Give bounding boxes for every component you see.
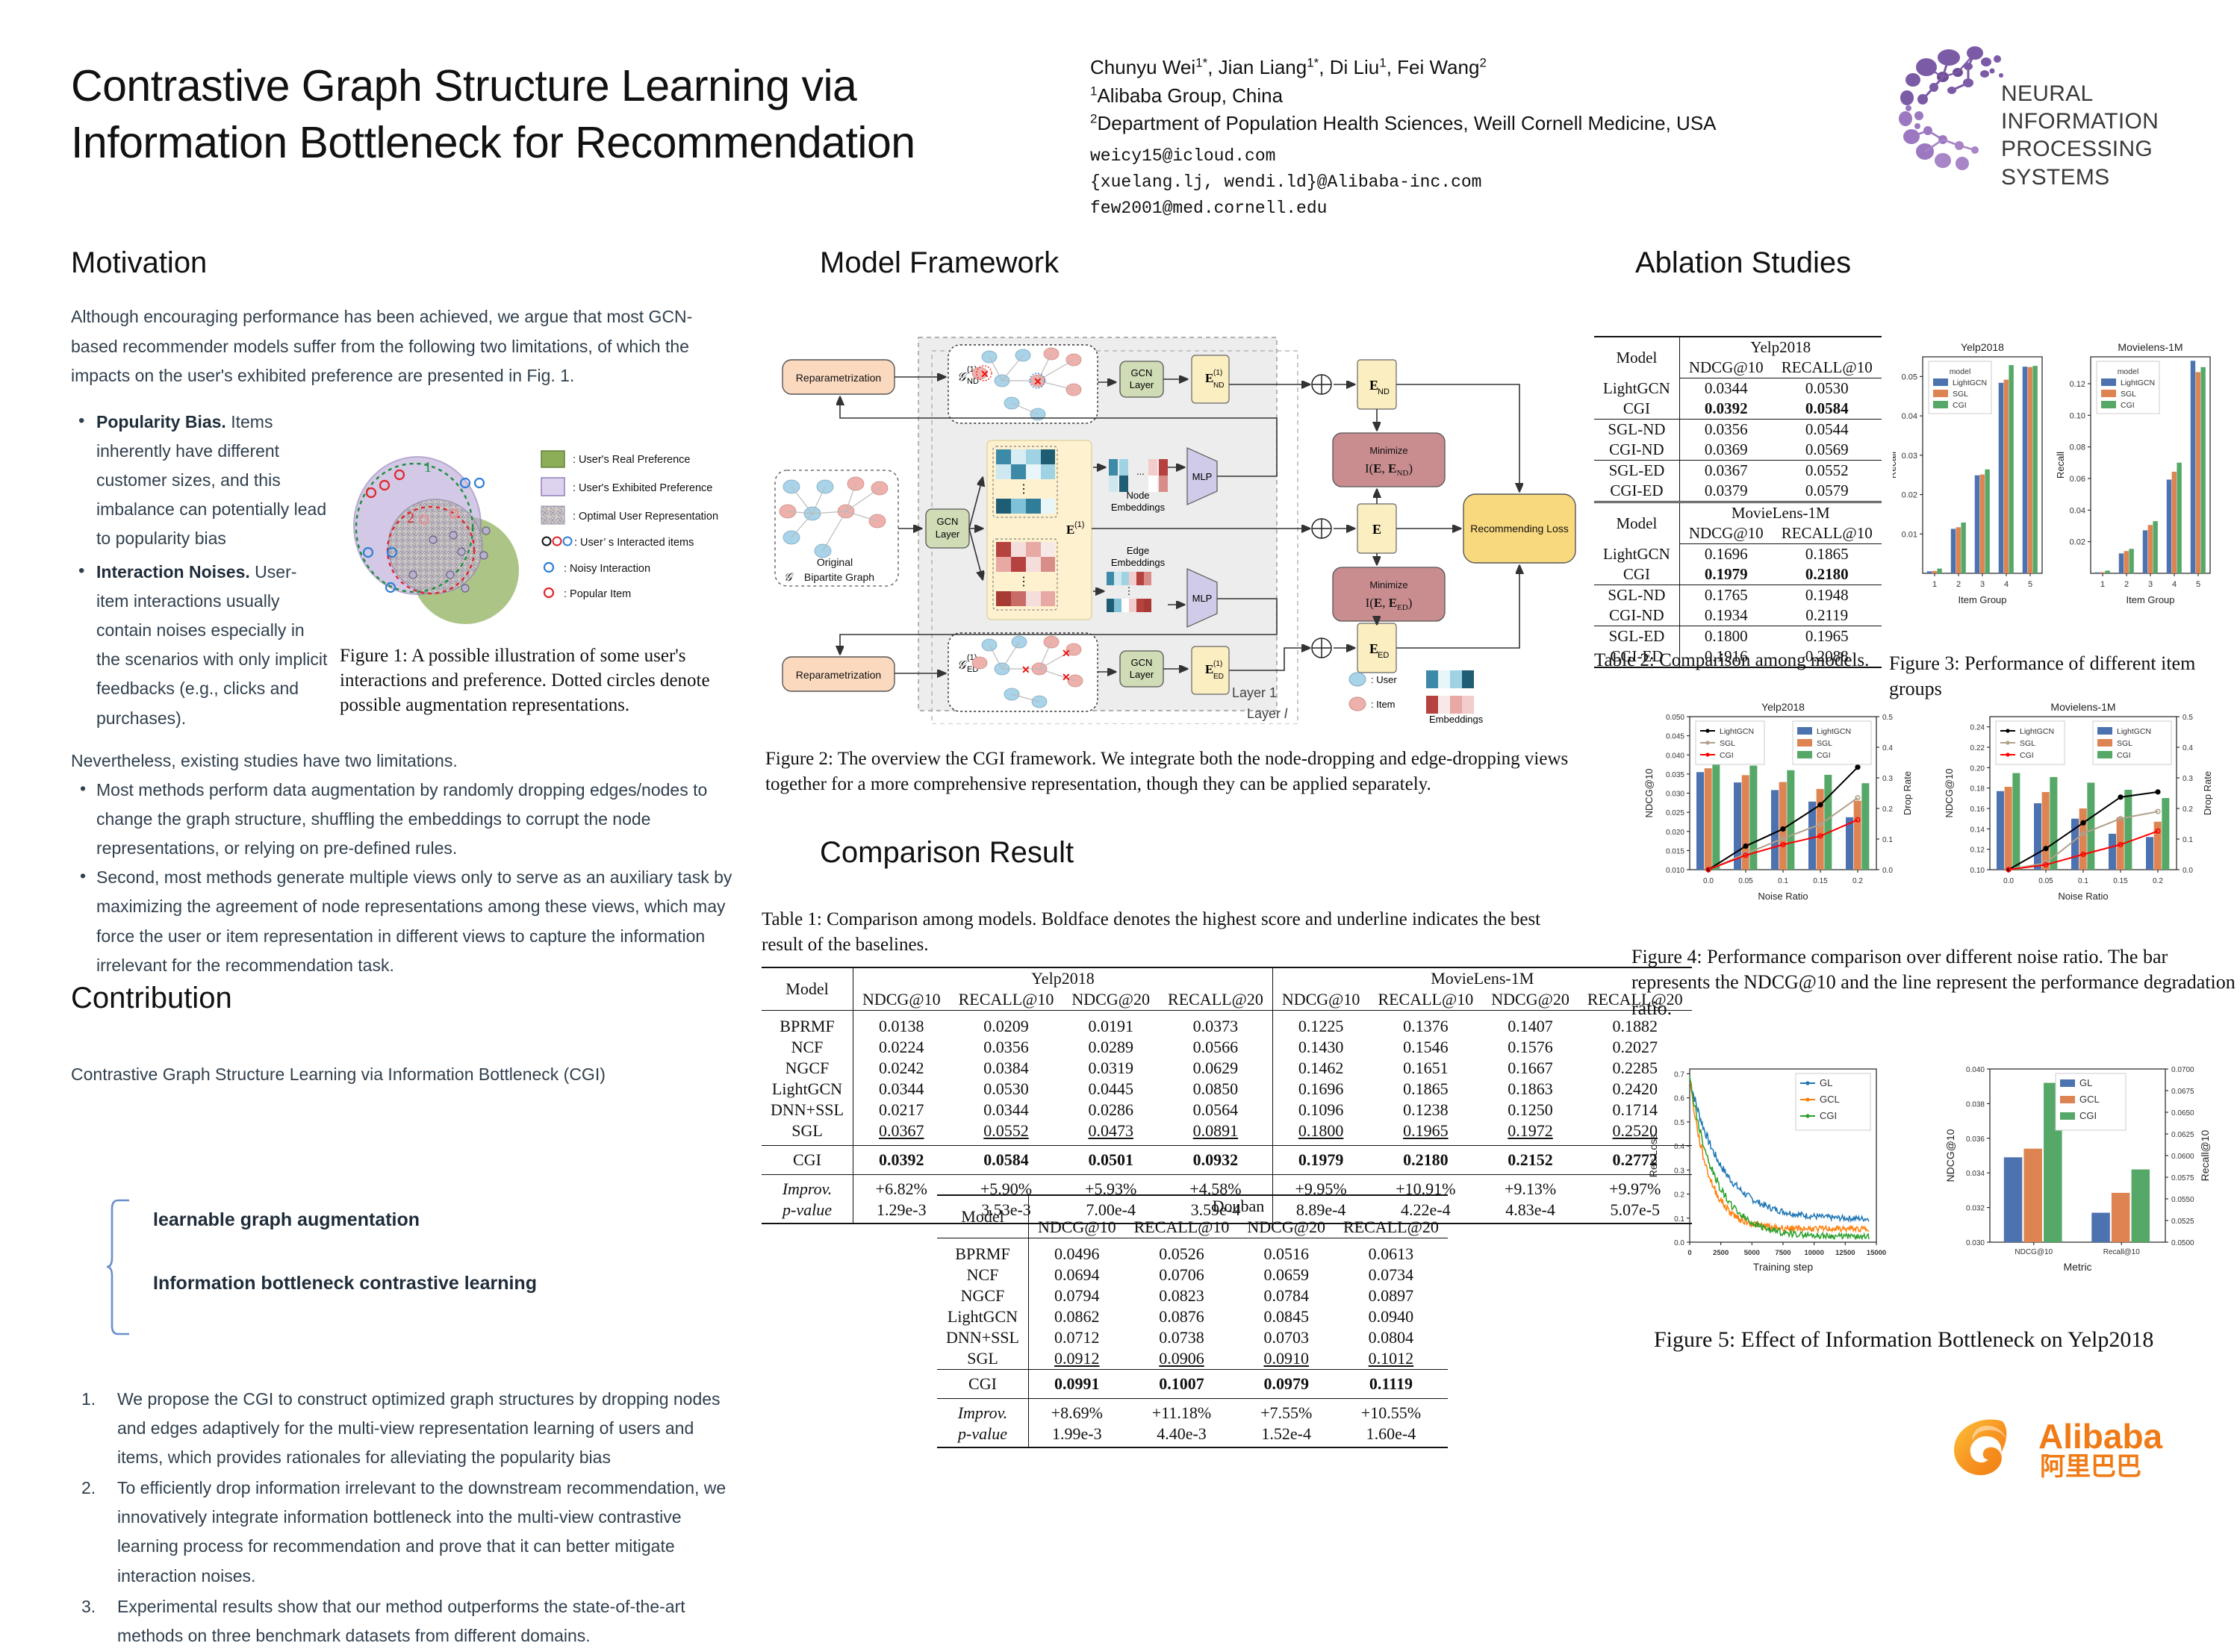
legend-label: CGI — [2020, 751, 2034, 760]
cell-value: 0.1979 — [1272, 1146, 1369, 1175]
bar-LightGCN — [1927, 571, 1932, 573]
cell-model: CGI — [1594, 399, 1679, 420]
bar-CGI — [2087, 782, 2094, 870]
authors-line: Chunyu Wei1*, Jian Liang1*, Di Liu1, Fei… — [1090, 54, 1859, 82]
y2-tick-label: 0.0500 — [2171, 1239, 2194, 1247]
svg-text:Reparametrization: Reparametrization — [796, 372, 881, 384]
bar-SGL — [2172, 472, 2177, 573]
y2-tick-label: 0.3 — [1882, 775, 1893, 783]
cell-value: 0.2119 — [1773, 605, 1882, 626]
legend-label: LightGCN — [1953, 378, 1987, 387]
figure-1-label-1: 1 — [424, 459, 432, 476]
cell-model: p-value — [762, 1200, 853, 1224]
svg-text:⋮: ⋮ — [1018, 483, 1030, 496]
x-tick-label: 2 — [1956, 580, 1961, 589]
table-douban: Model Douban NDCG@10RECALL@10NDCG@20RECA… — [937, 1194, 1448, 1448]
cell-model: BPRMF — [762, 1011, 853, 1038]
y-tick-label: 0.3 — [1674, 1167, 1684, 1175]
legend-swatch-SGL — [1933, 390, 1948, 397]
svg-text:(1): (1) — [1213, 660, 1222, 668]
cell-value: 0.0496 — [1028, 1238, 1124, 1265]
y-tick-label: 0.030 — [1666, 791, 1684, 799]
x-tick-label: 15000 — [1867, 1249, 1886, 1257]
legend-title: model — [1950, 367, 1971, 376]
legend-swatch-SGL — [2101, 390, 2116, 397]
chart-title: Yelp2018 — [1961, 341, 2004, 353]
cell-value: 0.1800 — [1679, 626, 1772, 647]
legend-swatch-real-preference — [541, 451, 564, 467]
y-tick-label: 0.16 — [1970, 805, 1985, 814]
y2-tick-label: 0.0600 — [2171, 1153, 2194, 1161]
bar-CGI — [1861, 783, 1869, 870]
cell-value: 0.0712 — [1028, 1327, 1124, 1348]
table-row: CGI0.09910.10070.09790.1119 — [937, 1370, 1448, 1399]
y-tick-label: 0.040 — [1966, 1066, 1985, 1074]
y-tick-label: 0.14 — [1970, 826, 1985, 834]
bar-CGI — [2032, 366, 2037, 573]
legend-swatch-CGI — [2097, 751, 2112, 758]
cell-value: 0.1576 — [1482, 1037, 1578, 1058]
cell-value: 0.0876 — [1125, 1306, 1239, 1327]
y2-axis-label: Drop Rate — [2202, 771, 2213, 815]
y-tick-label: 0.040 — [1666, 752, 1684, 760]
cell-value: 0.0912 — [1028, 1348, 1124, 1370]
figure-1-label-2: 2 — [407, 510, 414, 526]
y-tick-label: 0.032 — [1966, 1205, 1985, 1213]
legend-swatch-SGL — [2097, 739, 2112, 746]
cell-value: +7.55% — [1238, 1399, 1334, 1424]
svg-text:E: E — [1066, 523, 1074, 537]
y2-tick-label: 0.0675 — [2171, 1088, 2194, 1096]
bar-LightGCN — [1975, 476, 1979, 573]
cell-value: 0.0209 — [950, 1011, 1063, 1038]
cell-value: 0.1865 — [1773, 544, 1882, 565]
cell-value: 4.83e-4 — [1482, 1200, 1578, 1224]
table-row: SGL-ED0.03670.0552 — [1594, 461, 1882, 481]
figure-5-caption: Figure 5: Effect of Information Bottlene… — [1654, 1325, 2221, 1355]
cell-value: 0.0794 — [1028, 1285, 1124, 1306]
x-tick-label: 4 — [2172, 580, 2177, 589]
cell-value: 0.1225 — [1272, 1011, 1369, 1038]
cell-value: 0.0979 — [1238, 1370, 1334, 1399]
x-axis-label: Noise Ratio — [2058, 891, 2108, 902]
cell-model: CGI-ND — [1594, 605, 1679, 626]
cell-value: 0.1462 — [1272, 1058, 1369, 1079]
cell-value: 0.1119 — [1334, 1370, 1448, 1399]
figure-4: 0.0100.0150.0200.0250.0300.0350.0400.045… — [1631, 694, 2240, 926]
cell-value: 0.2180 — [1773, 564, 1882, 585]
cell-value: 0.1667 — [1482, 1058, 1578, 1079]
svg-text:E: E — [1372, 522, 1381, 537]
cell-value: 4.40e-3 — [1125, 1424, 1239, 1447]
cell-value: 0.0552 — [1773, 461, 1882, 481]
legend-label: GCL — [2079, 1094, 2100, 1105]
cell-value: 0.0862 — [1028, 1306, 1124, 1327]
cell-value: 0.0392 — [1679, 399, 1772, 420]
cell-value: 0.1865 — [1369, 1079, 1482, 1100]
svg-text:Recommending Loss: Recommending Loss — [1470, 523, 1569, 534]
svg-text:E: E — [1205, 371, 1213, 385]
cell-model: DNN+SSL — [937, 1327, 1028, 1348]
y-tick-label: 0.06 — [2070, 475, 2085, 484]
x-tick-label: 5 — [2196, 580, 2200, 589]
bar-GCL — [2112, 1193, 2130, 1242]
legend-label: LightGCN — [2020, 727, 2054, 736]
y-axis-label: Rec Loss — [1647, 1134, 1659, 1177]
bar-CGI — [2129, 549, 2133, 573]
bar-CGI — [1985, 470, 1989, 573]
y-tick-label: 0.025 — [1666, 809, 1684, 817]
table-row: ModelYelp2018 — [1594, 337, 1882, 358]
cell-value: 0.0367 — [853, 1120, 949, 1146]
figure-3: 0.010.020.030.040.0512345Item GroupRecal… — [1893, 334, 2240, 637]
col-header-model: Model — [1594, 337, 1679, 378]
email-1: weicy15@icloud.com — [1090, 143, 1859, 169]
legend-label: GCL — [1820, 1094, 1840, 1105]
group-header-movielens: MovieLens-1M — [1272, 967, 1691, 989]
y-tick-label: 0.04 — [2070, 506, 2085, 515]
bar-CGI — [2162, 798, 2169, 870]
email-block: weicy15@icloud.com {xuelang.lj, wendi.ld… — [1090, 143, 1859, 222]
bar-SGL — [2148, 525, 2153, 573]
y-tick-label: 0.02 — [1902, 491, 1917, 500]
y-tick-label: 0.7 — [1674, 1070, 1684, 1079]
legend-label: LightGCN — [1720, 727, 1754, 736]
figure-1: 1 2 : User's Real Preference — [340, 442, 735, 643]
cell-value: 0.0392 — [853, 1146, 949, 1175]
table-row: BPRMF0.04960.05260.05160.0613 — [937, 1238, 1448, 1265]
svg-text:ND: ND — [1213, 381, 1224, 390]
cell-model: NCF — [937, 1265, 1028, 1285]
bar-SGL — [2042, 792, 2050, 870]
col-header-metric: NDCG@20 — [1238, 1217, 1334, 1238]
bullet-text: User-item interactions usually contain n… — [96, 562, 327, 727]
legend-label: SGL — [1720, 739, 1735, 748]
section-heading-comparison-result: Comparison Result — [820, 836, 1074, 870]
neurips-line-1: NEURAL INFORMATION — [2001, 80, 2225, 135]
table-row: SGL-ND0.03560.0544 — [1594, 420, 1882, 440]
svg-text:MLP: MLP — [1192, 593, 1213, 604]
table-row: BPRMF0.01380.02090.01910.03730.12250.137… — [762, 1011, 1692, 1038]
cell-value: 0.0897 — [1334, 1285, 1448, 1306]
cell-value: 0.0569 — [1773, 440, 1882, 461]
y-tick-label: 0.034 — [1966, 1170, 1985, 1178]
legend-swatch-GCL — [2060, 1096, 2075, 1103]
list-text: To efficiently drop information irreleva… — [117, 1478, 726, 1585]
cell-value: 0.0319 — [1063, 1058, 1159, 1079]
bar-LightGCN — [1999, 383, 2003, 573]
cell-value: 0.0138 — [853, 1011, 949, 1038]
cell-model: SGL-ED — [1594, 626, 1679, 647]
figure-1-venn-diagram: 1 2 : User's Real Preference — [340, 442, 735, 643]
x-axis-label: Training step — [1753, 1261, 1814, 1273]
cell-value: 0.2180 — [1369, 1146, 1482, 1175]
col-header-metric: RECALL@10 — [1773, 358, 1882, 378]
legend-swatch-LightGCN — [1797, 727, 1812, 735]
table-row: LightGCN0.03440.0530 — [1594, 378, 1882, 399]
svg-text:⋮: ⋮ — [1018, 576, 1030, 588]
table-row: Improv.+8.69%+11.18%+7.55%+10.55% — [937, 1399, 1448, 1424]
y2-tick-label: 0.5 — [1882, 714, 1893, 722]
x-tick-label: 4 — [2004, 580, 2009, 589]
col-header-metric: NDCG@20 — [1482, 989, 1578, 1011]
svg-text:✕: ✕ — [1062, 671, 1071, 683]
figure-1-caption: Figure 1: A possible illustration of som… — [340, 643, 747, 717]
cell-value: 0.0224 — [853, 1037, 949, 1058]
y-tick-label: 0.045 — [1666, 733, 1684, 741]
bar-LightGCN — [1696, 772, 1704, 870]
svg-text:GCN: GCN — [937, 516, 959, 527]
x-tick-label: 2 — [2124, 580, 2129, 589]
y-tick-label: 0.030 — [1966, 1239, 1985, 1247]
x-tick-label: 0.2 — [1852, 877, 1863, 885]
cell-value: 0.0516 — [1238, 1238, 1334, 1265]
legend-label-user: : User — [1371, 674, 1397, 685]
table-row: LightGCN0.03440.05300.04450.08500.16960.… — [762, 1079, 1692, 1100]
bar-CGI — [1824, 775, 1832, 870]
table-row: CGI0.19790.2180 — [1594, 564, 1882, 585]
cell-value: 0.0501 — [1063, 1146, 1159, 1175]
y-tick-label: 0.22 — [1970, 744, 1985, 752]
cell-value: 0.0784 — [1238, 1285, 1334, 1306]
cell-value: 0.0369 — [1679, 440, 1772, 461]
y-tick-label: 0.20 — [1970, 764, 1985, 773]
cell-model: CGI-ED — [1594, 481, 1679, 502]
cell-model: NGCF — [762, 1058, 853, 1079]
y2-axis-label: Recall@10 — [2199, 1129, 2211, 1181]
bar-LightGCN — [1771, 790, 1779, 870]
svg-text:GCN: GCN — [1131, 657, 1153, 668]
svg-text:Embeddings: Embeddings — [1111, 502, 1166, 513]
cell-value: 0.1948 — [1773, 585, 1882, 606]
email-2: {xuelang.lj, wendi.ld}@Alibaba-inc.com — [1090, 169, 1859, 196]
cell-value: 0.0804 — [1334, 1327, 1448, 1348]
y-tick-label: 0.12 — [1970, 847, 1985, 855]
list-item: 2.To efficiently drop information irrele… — [71, 1474, 743, 1590]
bar-CGI — [1787, 770, 1794, 870]
cell-value: 0.0738 — [1125, 1327, 1239, 1348]
bullet-text: Items inherently have different customer… — [96, 412, 326, 548]
legend-label-interacted-items: : User’ s Interacted items — [574, 537, 694, 549]
y-axis-label: NDCG@10 — [1944, 1129, 1956, 1182]
y-tick-label: 0.18 — [1970, 785, 1985, 794]
cell-value: 0.0564 — [1159, 1100, 1272, 1120]
cell-model: Improv. — [937, 1399, 1028, 1424]
col-header-metric: RECALL@20 — [1159, 989, 1272, 1011]
bar-CGI — [2012, 773, 2020, 870]
cell-value: 0.1863 — [1482, 1079, 1578, 1100]
y2-tick-label: 0.0650 — [2171, 1109, 2194, 1118]
limitations-intro: Nevertheless, existing studies have two … — [71, 746, 743, 776]
legend-label: CGI — [1953, 401, 1967, 410]
contribution-lead: Contrastive Graph Structure Learning via… — [71, 1060, 743, 1090]
x-tick-label: 1 — [2100, 580, 2105, 589]
table-row: DNN+SSL0.07120.07380.07030.0804 — [937, 1327, 1448, 1348]
x-tick-label: 0.2 — [2153, 877, 2163, 885]
y2-tick-label: 0.0525 — [2171, 1218, 2194, 1226]
y-tick-label: 0.010 — [1666, 867, 1684, 875]
table-row: NCF0.06940.07060.06590.0734 — [937, 1265, 1448, 1285]
x-tick-label: 3 — [2148, 580, 2153, 589]
alibaba-logo: Alibaba 阿里巴巴 — [1941, 1411, 2225, 1482]
svg-text:Embeddings: Embeddings — [1111, 557, 1166, 568]
cell-model: CGI-ND — [1594, 440, 1679, 461]
legend-icon-popular-item — [544, 588, 553, 597]
bar-GL — [2091, 1213, 2110, 1242]
x-tick-label: Recall@10 — [2103, 1248, 2141, 1256]
y2-tick-label: 0.0550 — [2171, 1196, 2194, 1204]
y-tick-label: 0.05 — [1902, 373, 1917, 381]
bar-LightGCN — [1997, 791, 2004, 870]
col-header-metric: RECALL@10 — [1369, 989, 1482, 1011]
svg-text:GCN: GCN — [1131, 367, 1153, 378]
cell-value: +11.18% — [1125, 1399, 1239, 1424]
list-number: 1. — [81, 1385, 96, 1414]
table-row: Model Douban — [937, 1195, 1448, 1217]
cell-value: 0.1979 — [1679, 564, 1772, 585]
cell-value: 0.0613 — [1334, 1238, 1448, 1265]
svg-text:E: E — [1205, 662, 1213, 676]
legend-label: GL — [1820, 1077, 1832, 1088]
cell-value: 0.0286 — [1063, 1100, 1159, 1120]
bar-LightGCN — [2023, 367, 2027, 573]
cell-value: 0.0629 — [1159, 1058, 1272, 1079]
cell-model: SGL — [762, 1120, 853, 1146]
col-header-metric: NDCG@10 — [1272, 989, 1369, 1011]
x-tick-label: 10000 — [1804, 1249, 1823, 1257]
bar-SGL — [2005, 787, 2012, 870]
cell-value: 0.0526 — [1125, 1238, 1239, 1265]
cell-value: 0.0906 — [1125, 1348, 1239, 1370]
x-axis-label: Noise Ratio — [1758, 891, 1808, 902]
page-title: Contrastive Graph Structure Learning via… — [71, 58, 1064, 171]
svg-text:Minimize: Minimize — [1369, 579, 1407, 590]
cell-model: Improv. — [762, 1175, 853, 1200]
contribution-point-2: Information bottleneck contrastive learn… — [153, 1273, 537, 1294]
svg-text:ND: ND — [1378, 387, 1390, 396]
brace-icon — [105, 1198, 134, 1336]
cell-value: 0.1965 — [1773, 626, 1882, 647]
list-item: Interaction Noises. User-item interactio… — [71, 558, 329, 733]
affiliation-1: 1Alibaba Group, China — [1090, 82, 1859, 110]
section-heading-ablation-studies: Ablation Studies — [1635, 246, 1851, 280]
cell-value: 0.0367 — [1679, 461, 1772, 481]
cell-value: 0.1965 — [1369, 1120, 1482, 1146]
svg-text:(1): (1) — [1213, 369, 1222, 377]
cell-model: SGL-ND — [1594, 420, 1679, 440]
cell-value: 0.0473 — [1063, 1120, 1159, 1146]
legend-swatch-CGI — [1797, 751, 1812, 758]
x-tick-label: 0.15 — [1813, 877, 1828, 885]
bar-SGL — [1817, 789, 1824, 870]
x-tick-label: 0.0 — [2003, 877, 2014, 885]
affiliation-2: 2Department of Population Health Science… — [1090, 110, 1859, 138]
table-row: CGI-ND0.03690.0569 — [1594, 440, 1882, 461]
alibaba-wordmark: Alibaba — [2038, 1417, 2163, 1456]
table-row: NGCF0.07940.08230.07840.0897 — [937, 1285, 1448, 1306]
x-tick-label: 7500 — [1775, 1249, 1791, 1257]
group-header-yelp: Yelp2018 — [853, 967, 1272, 989]
cell-value: 0.0910 — [1238, 1348, 1334, 1370]
cell-value: 0.0552 — [950, 1120, 1063, 1146]
svg-text:ED: ED — [1213, 673, 1224, 681]
legend-label: SGL — [2020, 739, 2035, 748]
chart-title: Movielens-1M — [2118, 341, 2183, 353]
svg-text:Original: Original — [817, 556, 853, 568]
section-heading-motivation: Motivation — [71, 246, 207, 280]
svg-text:Layer: Layer — [1130, 669, 1154, 680]
bar-SGL — [1779, 782, 1787, 870]
table-row: CGI0.03920.0584 — [1594, 399, 1882, 420]
legend-label-embeddings: Embeddings — [1429, 714, 1484, 724]
legend-swatch-CGI — [2101, 401, 2116, 408]
legend-swatch-LightGCN — [2097, 727, 2112, 735]
bar-LightGCN — [2143, 530, 2147, 573]
cell-model: NCF — [762, 1037, 853, 1058]
cell-model: SGL-ED — [1594, 461, 1679, 481]
cell-model: LightGCN — [1594, 378, 1679, 399]
list-item: 3.Experimental results show that our met… — [71, 1592, 743, 1651]
legend-label: LightGCN — [1817, 727, 1851, 736]
svg-text:Layer: Layer — [1130, 379, 1154, 390]
contribution-point-1: learnable graph augmentation — [153, 1209, 420, 1231]
x-tick-label: 0.1 — [1778, 877, 1788, 885]
cell-value: 0.0991 — [1028, 1370, 1124, 1399]
list-item: Popularity Bias. Items inherently have d… — [71, 408, 329, 553]
list-item: 1.We propose the CGI to construct optimi… — [71, 1385, 743, 1472]
cell-model: LightGCN — [762, 1079, 853, 1100]
alibaba-chinese: 阿里巴巴 — [2040, 1452, 2141, 1482]
y-tick-label: 0.038 — [1966, 1100, 1985, 1109]
legend-icon-user — [1349, 673, 1366, 686]
svg-text:...: ... — [1136, 466, 1145, 477]
figure-2-architecture-diagram: Layer 1 Layer l Reparametrization Repara… — [769, 328, 1590, 724]
svg-text:✕: ✕ — [1021, 664, 1030, 676]
cell-value: 0.1007 — [1125, 1370, 1239, 1399]
bar-LightGCN — [2109, 834, 2116, 870]
limitations-block: Nevertheless, existing studies have two … — [71, 746, 743, 980]
cell-value: 0.0566 — [1159, 1037, 1272, 1058]
group-header-douban: Douban — [1028, 1195, 1447, 1217]
legend-label: GL — [2079, 1077, 2092, 1088]
cell-value: 0.0584 — [950, 1146, 1063, 1175]
bar-SGL — [2124, 551, 2129, 573]
bar-SGL — [2004, 380, 2009, 573]
cell-value: 0.0940 — [1334, 1306, 1448, 1327]
table-1: Model Yelp2018 MovieLens-1M NDCG@10RECAL… — [762, 967, 1692, 1224]
bar-SGL — [2196, 373, 2200, 573]
bar-CGI — [2153, 521, 2157, 573]
alibaba-mark-icon: Alibaba 阿里巴巴 — [1941, 1411, 2225, 1482]
y-axis-label: Recall — [2055, 452, 2066, 479]
svg-text:Layer: Layer — [936, 529, 960, 540]
y2-tick-label: 0.4 — [2183, 744, 2193, 752]
y2-tick-label: 0.1 — [2183, 836, 2193, 844]
cell-value: 0.0932 — [1159, 1146, 1272, 1175]
y2-tick-label: 0.0 — [2183, 867, 2193, 875]
cell-value: 0.0379 — [1679, 481, 1772, 502]
table-1-caption: Table 1: Comparison among models. Boldfa… — [762, 907, 1583, 957]
y-tick-label: 0.0 — [1674, 1239, 1684, 1247]
table-row: SGL0.09120.09060.09100.1012 — [937, 1348, 1448, 1370]
cell-value: 1.99e-3 — [1028, 1424, 1124, 1447]
cell-model: SGL — [937, 1348, 1028, 1370]
x-tick-label: 5 — [2028, 580, 2032, 589]
cell-value: 0.0344 — [1679, 378, 1772, 399]
bar-LightGCN — [2167, 479, 2171, 573]
cell-value: 0.1696 — [1272, 1079, 1369, 1100]
bar-CGI — [2124, 790, 2132, 870]
